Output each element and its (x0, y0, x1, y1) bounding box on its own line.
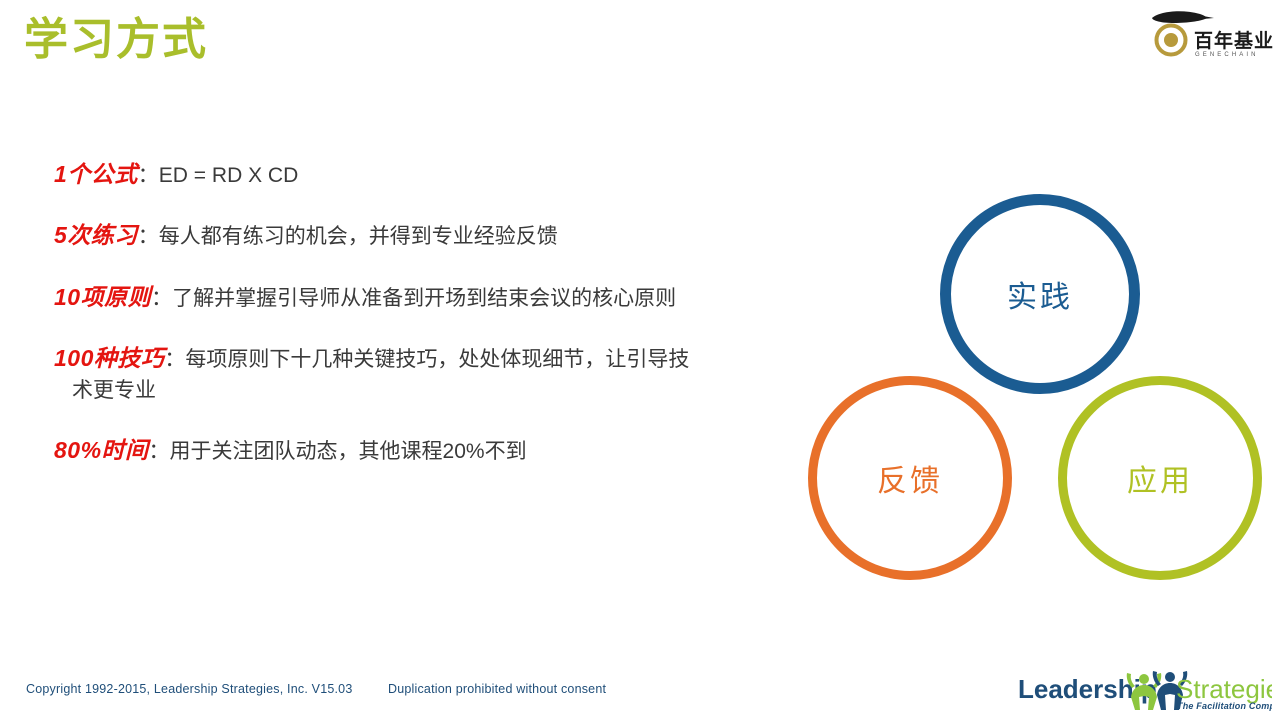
genechain-name-cn: 百年基业 (1194, 29, 1274, 52)
list-item: 10项原则：了解并掌握引导师从准备到开场到结束会议的核心原则 (54, 281, 814, 314)
bullet-label: 100种技巧 (54, 345, 164, 371)
list-item: 5次练习：每人都有练习的机会，并得到专业经验反馈 (54, 219, 814, 252)
leadership-strategies-logo: Leadership Strategies The Facilitation C… (1018, 666, 1272, 714)
slide-canvas: 学习方式 百年基业 GENECHAIN 1个公式：ED = RD X CD 5次… (0, 0, 1280, 720)
ring-inner-icon (1164, 33, 1178, 47)
bullet-separator: ： (138, 164, 159, 187)
bullet-label: 10项原则 (54, 284, 151, 310)
circle-feedback-label: 反馈 (877, 456, 943, 500)
bullet-text: ED = RD X CD (159, 164, 298, 187)
genechain-logo: 百年基业 GENECHAIN (1148, 6, 1274, 58)
bullet-label: 80%时间 (54, 437, 149, 463)
circle-feedback: 反馈 (808, 376, 1012, 580)
leadership-strategies-logo-svg: Leadership Strategies The Facilitation C… (1018, 666, 1272, 714)
list-item: 1个公式：ED = RD X CD (54, 158, 814, 191)
bullet-separator: ： (164, 348, 185, 371)
ls-tagline: The Facilitation Company (1177, 701, 1272, 711)
bullet-text: 每人都有练习的机会，并得到专业经验反馈 (159, 225, 558, 248)
genechain-logo-svg: 百年基业 GENECHAIN (1148, 6, 1274, 58)
circle-practice-label: 实践 (1007, 272, 1073, 316)
bullet-text: 了解并掌握引导师从准备到开场到结束会议的核心原则 (172, 287, 676, 310)
ls-word-strategies: Strategies (1176, 674, 1272, 704)
circle-practice: 实践 (940, 194, 1140, 394)
circle-apply: 应用 (1058, 376, 1262, 580)
list-item: 80%时间：用于关注团队动态，其他课程20%不到 (54, 434, 814, 467)
brush-stroke-icon (1152, 11, 1206, 23)
bullet-separator: ： (149, 440, 170, 463)
bullet-label: 5次练习 (54, 222, 138, 248)
circle-apply-label: 应用 (1127, 456, 1193, 500)
brush-tip-icon (1203, 16, 1214, 19)
footer-duplication: Duplication prohibited without consent (388, 682, 606, 696)
page-title: 学习方式 (24, 14, 208, 67)
genechain-name-en: GENECHAIN (1195, 52, 1259, 58)
bullet-separator: ： (151, 287, 172, 310)
bullet-separator: ： (138, 225, 159, 248)
list-item: 100种技巧：每项原则下十几种关键技巧，处处体现细节，让引导技 术更专业 (54, 342, 794, 406)
bullet-text-continued: 术更专业 (72, 379, 156, 402)
bullet-label: 1个公式 (54, 161, 138, 187)
bullet-list: 1个公式：ED = RD X CD 5次练习：每人都有练习的机会，并得到专业经验… (54, 158, 814, 496)
bullet-text: 每项原则下十几种关键技巧，处处体现细节，让引导技 (185, 348, 689, 371)
bullet-text: 用于关注团队动态，其他课程20%不到 (170, 440, 527, 463)
footer-copyright: Copyright 1992-2015, Leadership Strategi… (26, 682, 353, 696)
